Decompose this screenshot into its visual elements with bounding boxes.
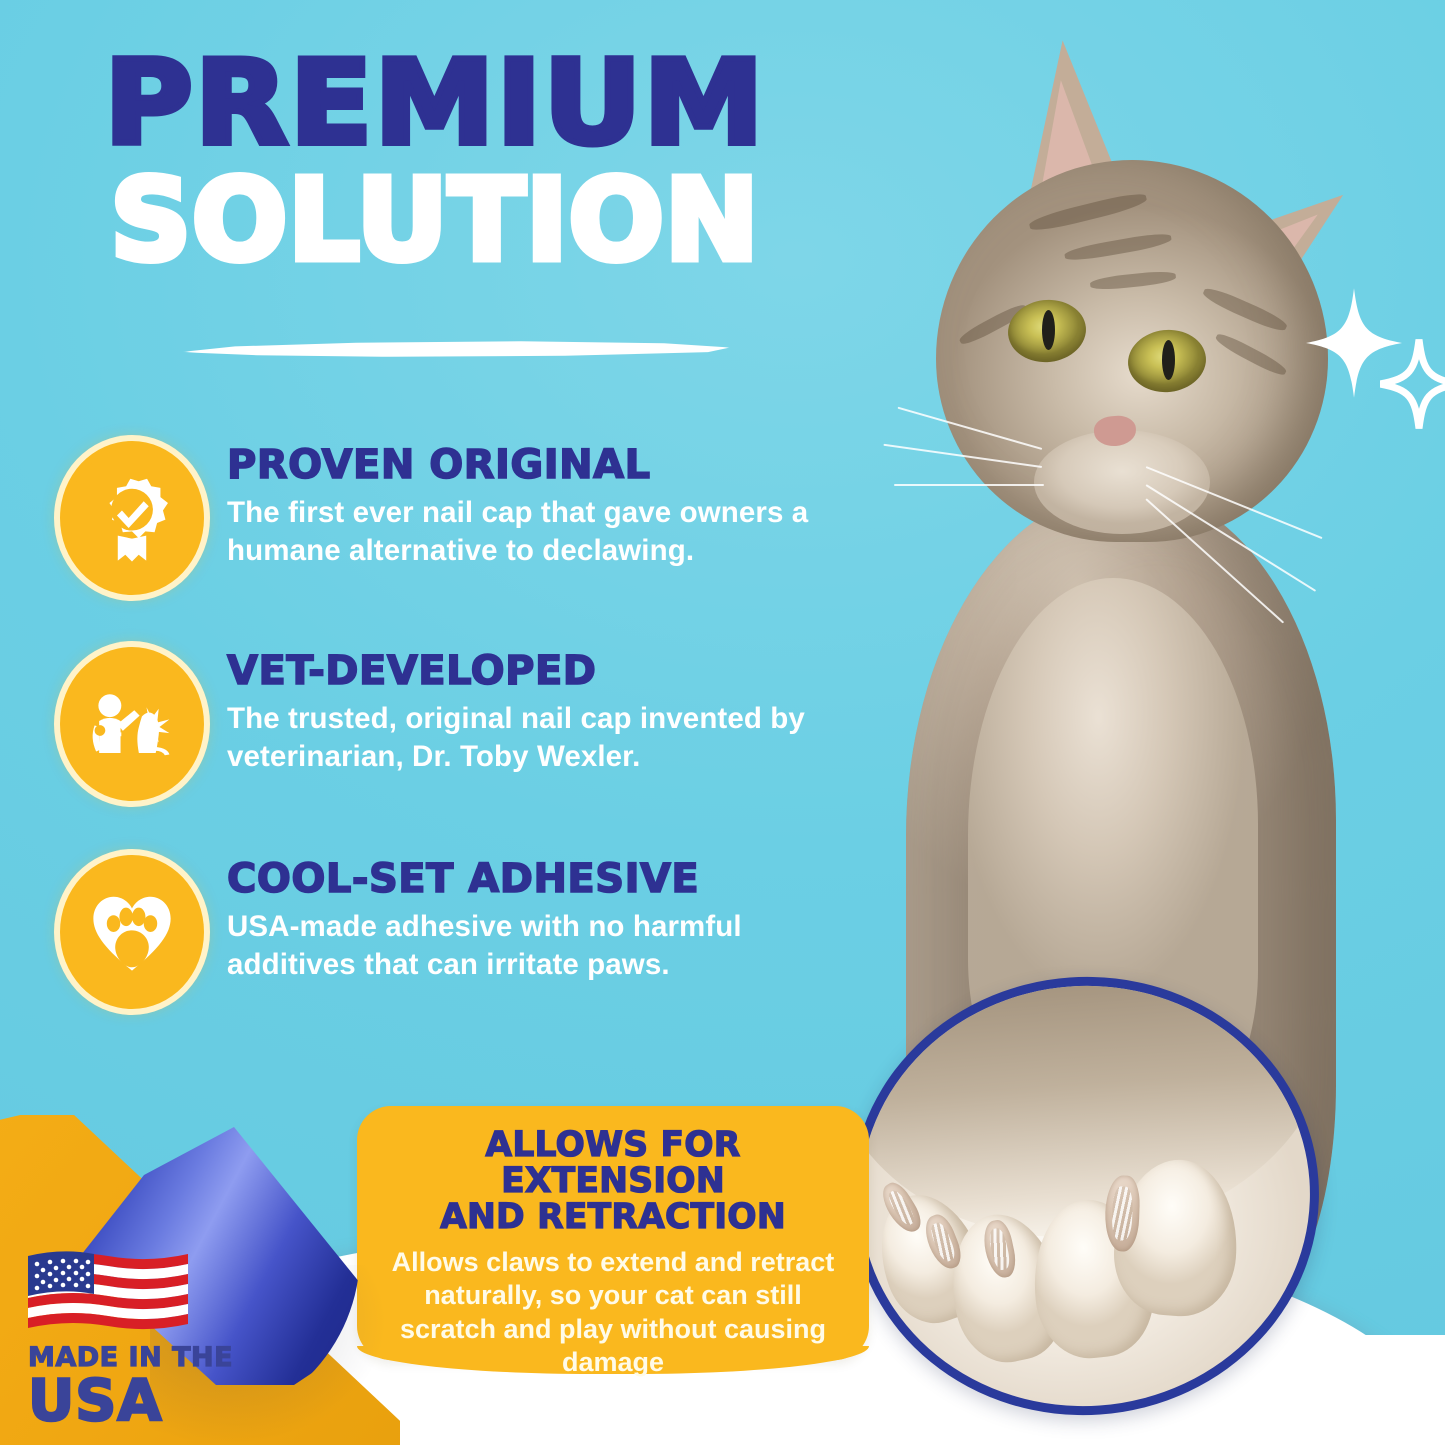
title-line-premium: PREMIUM — [24, 48, 846, 159]
cat-pupil-left — [1042, 310, 1055, 350]
feature-text: COOL-SET ADHESIVE USA-made adhesive with… — [227, 852, 845, 985]
feature-icon-wrapper — [55, 644, 209, 808]
feature-heading: PROVEN ORIGINAL — [227, 444, 845, 486]
feature-body: USA-made adhesive with no harmful additi… — [227, 908, 845, 985]
feature-text: VET-DEVELOPED The trusted, original nail… — [227, 644, 845, 777]
cat-pupil-right — [1162, 340, 1175, 380]
made-in-usa-line1: MADE IN THE — [28, 1344, 258, 1371]
feature-item-proven-original: PROVEN ORIGINAL The first ever nail cap … — [55, 438, 845, 602]
feature-text: PROVEN ORIGINAL The first ever nail cap … — [227, 438, 845, 571]
feature-heading: VET-DEVELOPED — [227, 650, 845, 692]
page-title: PREMIUM SOLUTION — [40, 48, 830, 277]
callout-body: Allows claws to extend and retract natur… — [379, 1246, 847, 1380]
callout-heading-line2: AND RETRACTION — [440, 1197, 786, 1237]
feature-body: The first ever nail cap that gave owners… — [227, 494, 845, 571]
feature-icon-wrapper — [55, 438, 209, 602]
cat-whisker — [894, 484, 1044, 486]
vet-high-five-cat-icon — [67, 654, 197, 794]
made-in-usa-badge: MADE IN THE USA — [28, 1248, 258, 1430]
heart-paw-icon — [67, 862, 197, 1002]
usa-flag-icon — [28, 1248, 188, 1336]
feature-heading: COOL-SET ADHESIVE — [227, 858, 845, 900]
title-line-solution: SOLUTION — [40, 165, 830, 277]
feature-item-cool-set-adhesive: COOL-SET ADHESIVE USA-made adhesive with… — [55, 852, 845, 1016]
feature-body: The trusted, original nail cap invented … — [227, 700, 845, 777]
extension-retraction-callout: ALLOWS FOR EXTENSION AND RETRACTION Allo… — [357, 1106, 869, 1360]
made-in-usa-line2: USA — [28, 1373, 258, 1430]
callout-heading-line1: ALLOWS FOR EXTENSION — [485, 1125, 740, 1201]
feature-icon-wrapper — [55, 852, 209, 1016]
sparkle-outline-icon — [1380, 338, 1445, 430]
feature-item-vet-developed: VET-DEVELOPED The trusted, original nail… — [55, 644, 845, 808]
infographic-page: PREMIUM SOLUTION PROVEN ORIGI — [0, 0, 1445, 1445]
callout-heading: ALLOWS FOR EXTENSION AND RETRACTION — [379, 1128, 847, 1236]
feature-list: PROVEN ORIGINAL The first ever nail cap … — [55, 438, 845, 1064]
award-ribbon-check-icon — [67, 448, 197, 588]
